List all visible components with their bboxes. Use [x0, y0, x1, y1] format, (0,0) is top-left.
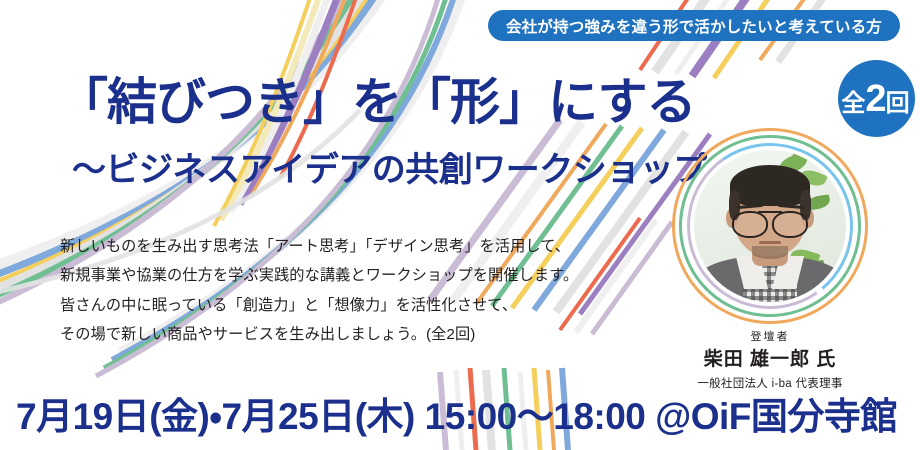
page-subtitle: 〜ビジネスアイデアの共創ワークショップ: [72, 152, 712, 189]
event-poster: 会社が持つ強みを違う形で活かしたいと考えている方 全 2 回 「結びつき」を「形…: [0, 0, 920, 450]
description-line: 新しいものを生み出す思考法「アート思考」「デザイン思考」を活用して、: [60, 232, 620, 261]
speaker-photo: [694, 150, 846, 302]
glasses-lens-left: [732, 211, 768, 238]
target-audience-pill: 会社が持つ強みを違う形で活かしたいと考えている方: [488, 10, 900, 41]
event-date-bar: 7月19日(金)・7月25日(木) 15:00〜18:00 @OiF国分寺館: [0, 388, 920, 444]
photo-hair: [730, 165, 809, 206]
page-title: 「結びつき」を「形」にする: [58, 75, 698, 129]
photo-mouth: [759, 241, 780, 244]
speaker-name: 柴田 雄一郎 氏: [672, 348, 868, 372]
description-line: 新規事業や協業の仕方を学ぶ実践的な講義とワークショップを開催します。: [60, 261, 620, 290]
session-count-badge: 全 2 回: [838, 60, 915, 137]
glasses-icon: [732, 211, 808, 234]
description-line: 皆さんの中に眠っている「創造力」と「想像力」を活性化させて、: [60, 291, 620, 320]
session-count-suffix: 回: [886, 92, 910, 116]
description-line: その場で新しい商品やサービスを生み出しましょう。(全2回): [60, 320, 620, 349]
event-datetime-venue: 7月19日(金)・7月25日(木) 15:00〜18:00 @OiF国分寺館: [16, 398, 897, 435]
description-text: 新しいものを生み出す思考法「アート思考」「デザイン思考」を活用して、 新規事業や…: [60, 232, 620, 349]
session-count-text: 全 2 回: [841, 80, 909, 118]
speaker-role-label: 登壇者: [672, 328, 868, 344]
speaker-portrait: [672, 128, 868, 324]
glasses-lens-right: [772, 211, 808, 238]
session-count-prefix: 全: [841, 92, 865, 116]
target-audience-label: 会社が持つ強みを違う形で活かしたいと考えている方: [506, 15, 882, 37]
glasses-bridge: [758, 211, 782, 214]
speaker-caption: 登壇者 柴田 雄一郎 氏 一般社団法人 i-ba 代表理事: [672, 328, 868, 391]
session-count-number: 2: [865, 80, 885, 118]
